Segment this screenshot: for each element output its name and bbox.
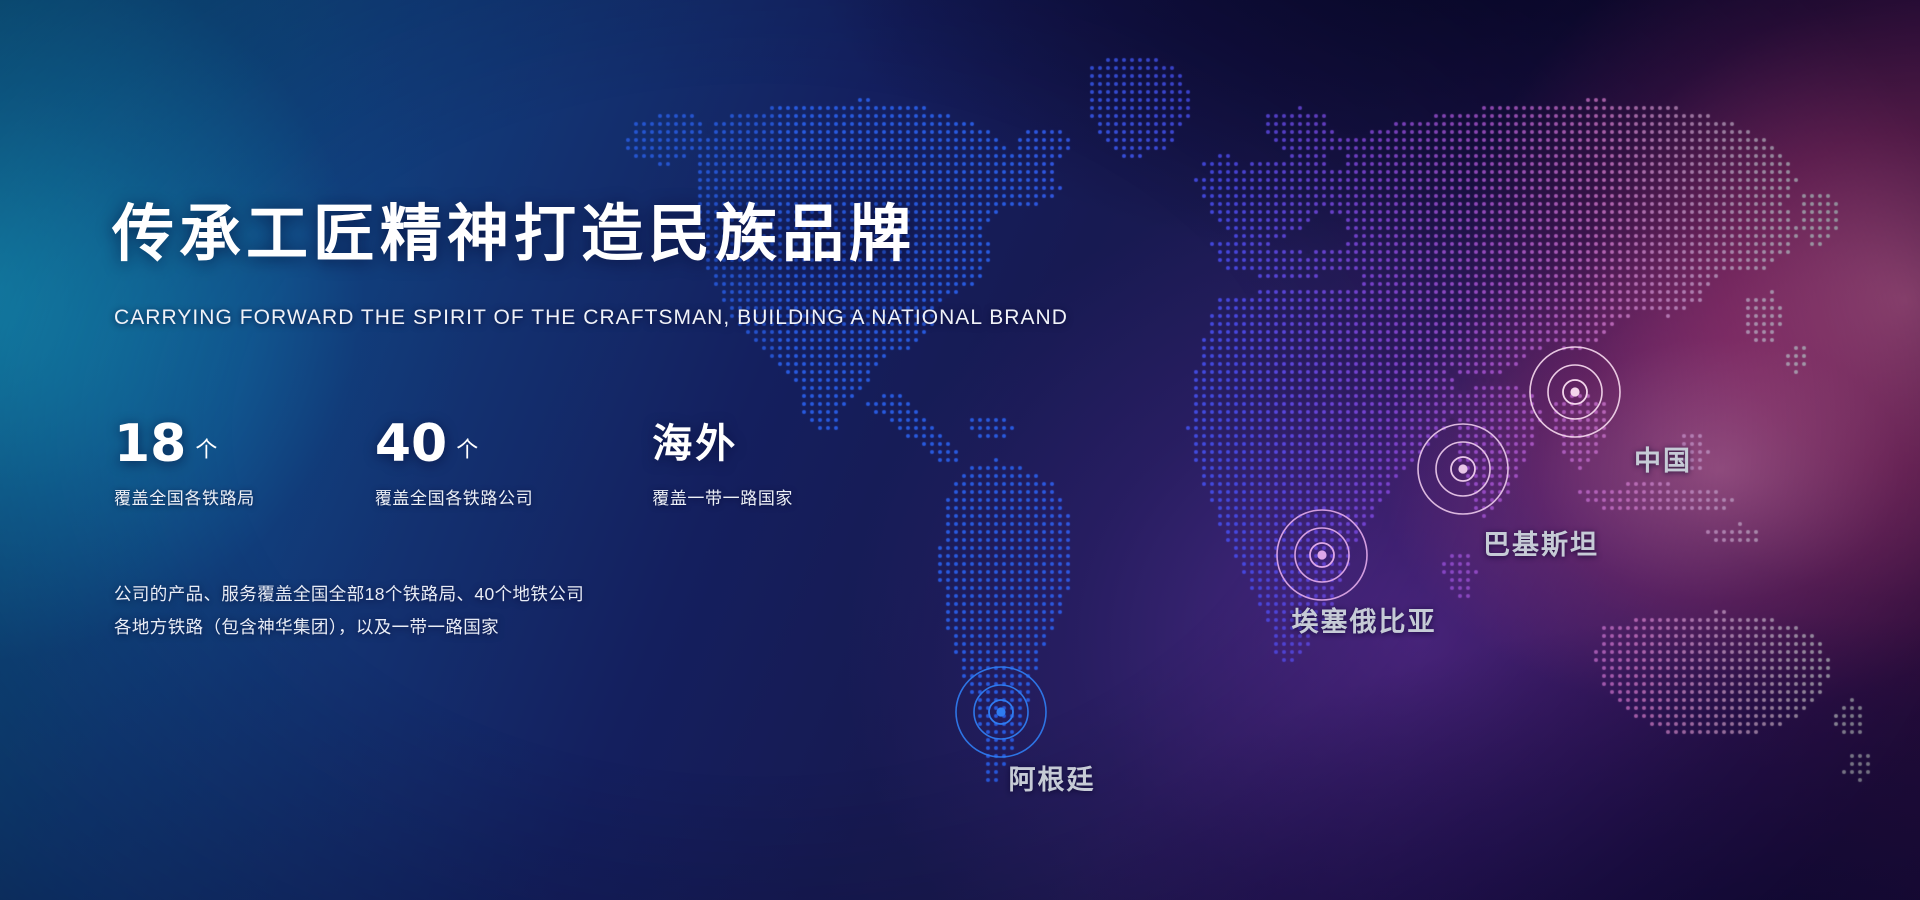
stat-value-row: 40个 — [375, 418, 533, 474]
stat-caption: 覆盖一带一路国家 — [652, 490, 793, 507]
stat-number: 40 — [375, 418, 447, 470]
stat-caption: 覆盖全国各铁路公司 — [375, 490, 533, 507]
target-rings-icon — [1407, 413, 1519, 525]
description-line: 各地方铁路（包含神华集团），以及一带一路国家 — [114, 611, 584, 644]
stats-row: 18个覆盖全国各铁路局40个覆盖全国各铁路公司海外覆盖一带一路国家 — [114, 418, 793, 507]
stat-number: 18 — [114, 418, 186, 470]
stat-item: 18个覆盖全国各铁路局 — [114, 418, 255, 507]
stat-value-row: 海外 — [652, 418, 793, 474]
map-marker-label: 埃塞俄比亚 — [1292, 600, 1437, 639]
description-paragraph: 公司的产品、服务覆盖全国全部18个铁路局、40个地铁公司各地方铁路（包含神华集团… — [114, 578, 584, 644]
stat-unit: 个 — [456, 439, 478, 461]
stat-caption: 覆盖全国各铁路局 — [114, 490, 255, 507]
target-rings-icon — [1519, 336, 1631, 448]
content-block: 传承工匠精神打造民族品牌 CARRYING FORWARD THE SPIRIT… — [112, 0, 1112, 900]
description-line: 公司的产品、服务覆盖全国全部18个铁路局、40个地铁公司 — [114, 578, 584, 611]
map-marker-label: 巴基斯坦 — [1483, 523, 1599, 562]
map-marker[interactable] — [1407, 413, 1519, 525]
target-rings-icon — [1266, 499, 1378, 611]
stat-item: 40个覆盖全国各铁路公司 — [375, 418, 533, 507]
page-title: 传承工匠精神打造民族品牌 — [112, 203, 916, 265]
map-marker-label: 中国 — [1634, 439, 1692, 478]
stat-item: 海外覆盖一带一路国家 — [652, 418, 793, 507]
banner-stage: 中国巴基斯坦埃塞俄比亚阿根廷 传承工匠精神打造民族品牌 CARRYING FOR… — [0, 0, 1920, 900]
stat-value-row: 18个 — [114, 418, 255, 474]
page-subtitle: CARRYING FORWARD THE SPIRIT OF THE CRAFT… — [114, 307, 1068, 328]
map-marker[interactable] — [1519, 336, 1631, 448]
stat-number: 海外 — [652, 418, 738, 470]
map-marker[interactable] — [1266, 499, 1378, 611]
stat-unit: 个 — [195, 439, 217, 461]
